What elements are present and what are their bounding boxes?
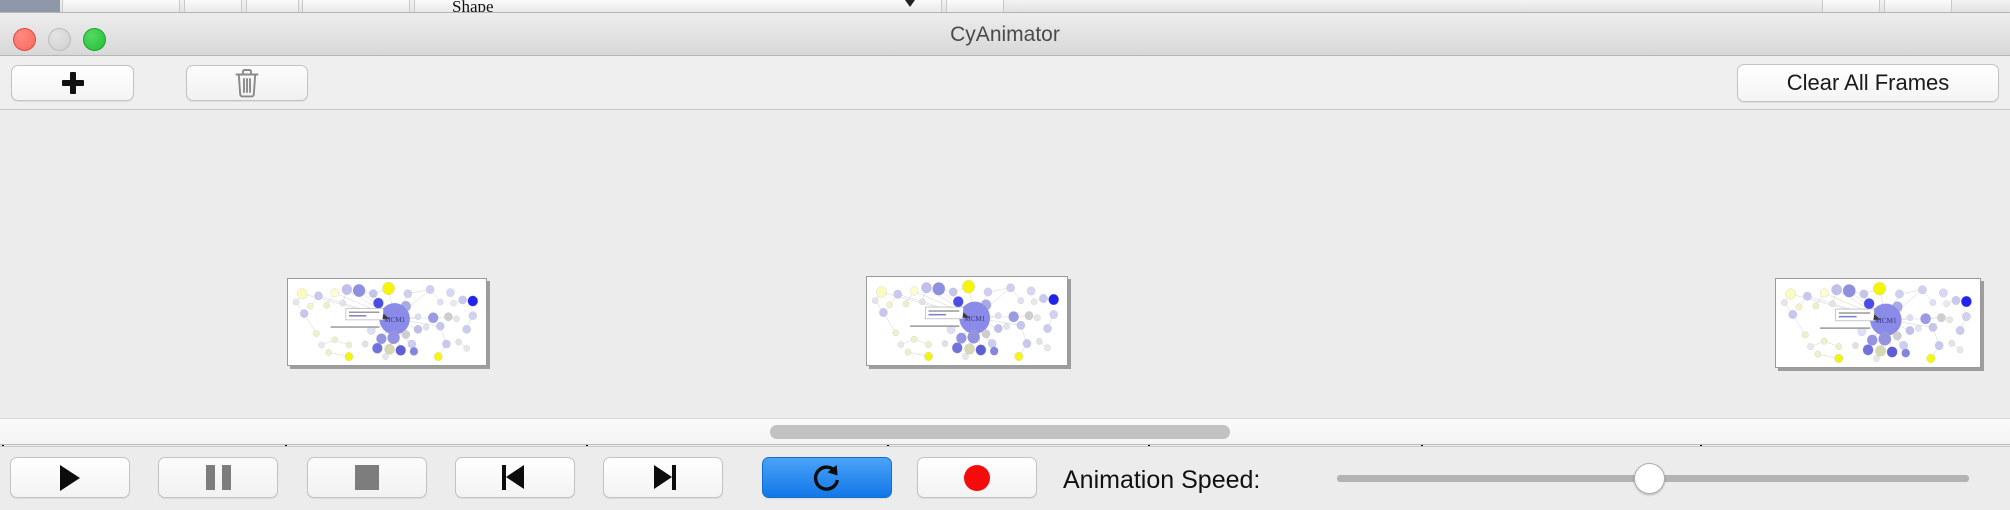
background-tab: [302, 0, 410, 13]
background-tab: [246, 0, 299, 13]
background-caret-icon: [905, 0, 915, 7]
timeline-scrollbar[interactable]: [0, 418, 2010, 445]
skip-back-icon: [502, 465, 528, 490]
play-icon: [60, 465, 80, 491]
skip-forward-button[interactable]: [603, 457, 723, 498]
pause-icon: [206, 465, 231, 490]
trash-icon: [234, 68, 260, 98]
record-button[interactable]: [917, 457, 1037, 498]
background-tab: [1822, 0, 1880, 13]
svg-text:MCM1: MCM1: [1875, 316, 1897, 325]
background-tab: [184, 0, 242, 13]
record-icon: [964, 465, 990, 491]
stop-icon: [355, 465, 379, 490]
frame-thumbnail[interactable]: MCM1: [1775, 278, 1981, 368]
animation-speed-slider-thumb[interactable]: [1634, 463, 1665, 494]
svg-text:MCM1: MCM1: [964, 314, 985, 323]
background-tab: [946, 0, 1004, 13]
background-tab: [1884, 0, 1952, 13]
timeline-scrollbar-thumb[interactable]: [770, 425, 1230, 439]
background-selected-tab: [0, 0, 60, 12]
window-title: CyAnimator: [0, 13, 2010, 56]
background-window-label: Shape: [452, 0, 494, 13]
plus-icon: [62, 72, 84, 94]
toolbar: Clear All Frames: [0, 56, 2010, 110]
title-bar: CyAnimator: [0, 13, 2010, 56]
loop-icon: [812, 463, 842, 493]
add-frame-button[interactable]: [11, 65, 134, 101]
stop-button[interactable]: [307, 457, 427, 498]
background-tab: [62, 0, 180, 13]
skip-forward-icon: [650, 465, 676, 490]
play-button[interactable]: [10, 457, 130, 498]
animation-speed-label: Animation Speed:: [1063, 466, 1260, 495]
skip-back-button[interactable]: [455, 457, 575, 498]
background-window-strip: Shape: [0, 0, 2010, 13]
clear-all-frames-button[interactable]: Clear All Frames: [1737, 64, 1999, 102]
cyanimator-window: Shape CyAnimator Clear All Frames MCM1 M…: [0, 0, 2010, 510]
frame-thumbnail[interactable]: MCM1: [287, 278, 487, 366]
playback-control-bar: Animation Speed:: [0, 446, 2010, 510]
loop-button[interactable]: [762, 457, 892, 498]
delete-frame-button[interactable]: [186, 65, 308, 101]
clear-all-frames-label: Clear All Frames: [1787, 70, 1950, 96]
pause-button[interactable]: [158, 457, 278, 498]
frame-thumbnail[interactable]: MCM1: [866, 276, 1068, 366]
timeline-panel[interactable]: MCM1 MCM1 MCM1 12131415161718 Seconds: [0, 110, 2010, 408]
